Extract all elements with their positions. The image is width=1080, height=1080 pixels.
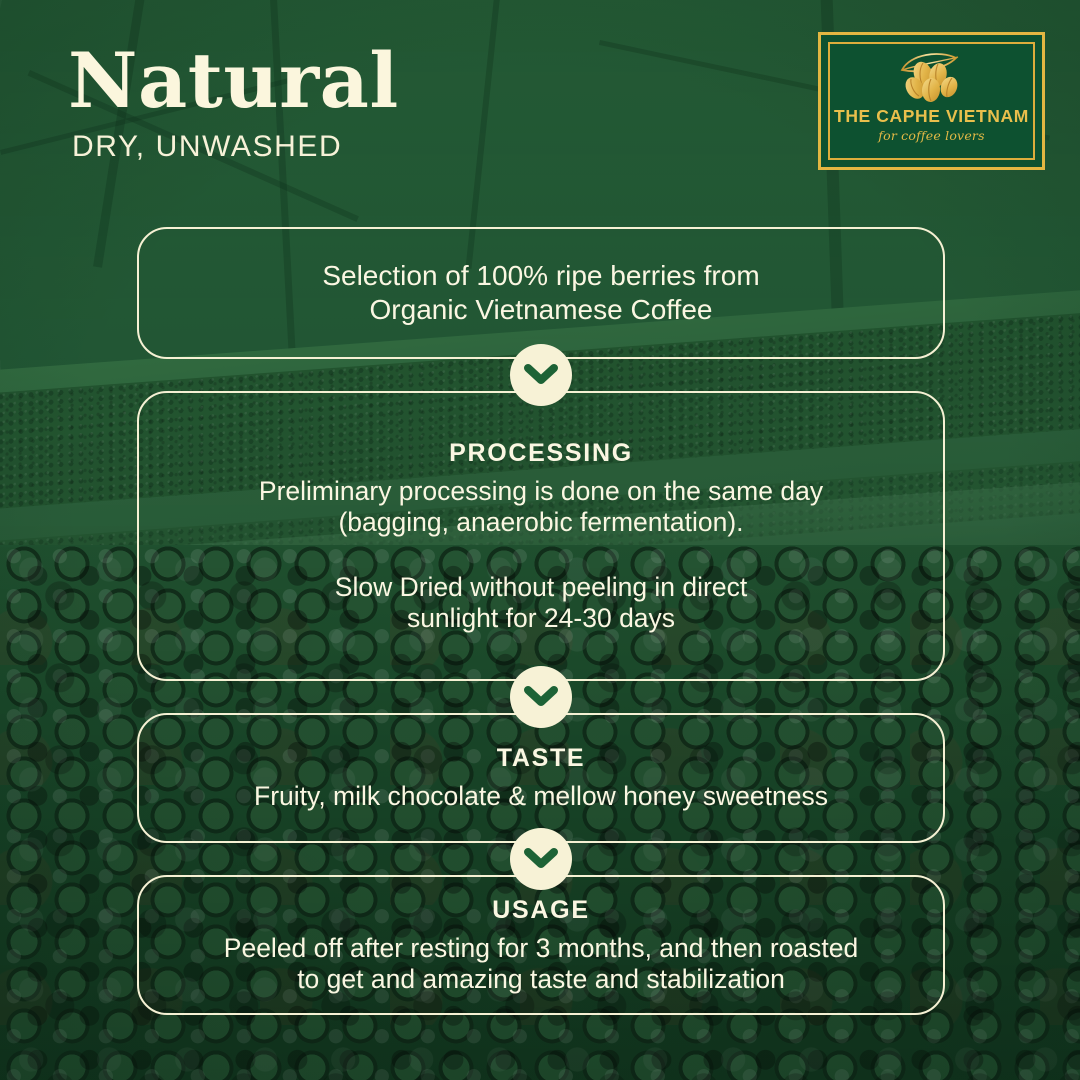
process-flow: Selection of 100% ripe berries from Orga…: [137, 227, 945, 1015]
brand-tagline: for coffee lovers: [878, 128, 984, 143]
flow-connector: [137, 843, 945, 875]
infographic-poster: Natural DRY, UNWASHED: [0, 0, 1080, 1080]
flow-step-text: Selection of 100% ripe berries from Orga…: [179, 259, 903, 326]
flow-step-usage: USAGE Peeled off after resting for 3 mon…: [137, 875, 945, 1015]
page-title: Natural: [68, 42, 399, 120]
flow-step-selection: Selection of 100% ripe berries from Orga…: [137, 227, 945, 359]
flow-step-text: Fruity, milk chocolate & mellow honey sw…: [179, 781, 903, 812]
chevron-down-icon: [510, 344, 572, 406]
flow-step-text: Preliminary processing is done on the sa…: [179, 476, 903, 538]
flow-step-heading: USAGE: [179, 896, 903, 925]
flow-step-processing: PROCESSING Preliminary processing is don…: [137, 391, 945, 681]
flow-step-taste: TASTE Fruity, milk chocolate & mellow ho…: [137, 713, 945, 843]
flow-connector: [137, 681, 945, 713]
flow-step-heading: TASTE: [179, 744, 903, 773]
brand-logo: THE CAPHE VIETNAM for coffee lovers: [818, 32, 1045, 170]
chevron-down-icon: [510, 828, 572, 890]
brand-logo-frame: THE CAPHE VIETNAM for coffee lovers: [828, 42, 1035, 160]
header: Natural DRY, UNWASHED: [68, 42, 399, 164]
page-subtitle: DRY, UNWASHED: [72, 130, 399, 164]
flow-connector: [137, 359, 945, 391]
flow-step-text: Peeled off after resting for 3 months, a…: [179, 933, 903, 995]
brand-name: THE CAPHE VIETNAM: [834, 106, 1029, 127]
chevron-down-icon: [510, 666, 572, 728]
flow-step-text-secondary: Slow Dried without peeling in direct sun…: [179, 572, 903, 634]
flow-step-heading: PROCESSING: [179, 439, 903, 468]
coffee-beans-leaf-icon: [886, 48, 978, 104]
